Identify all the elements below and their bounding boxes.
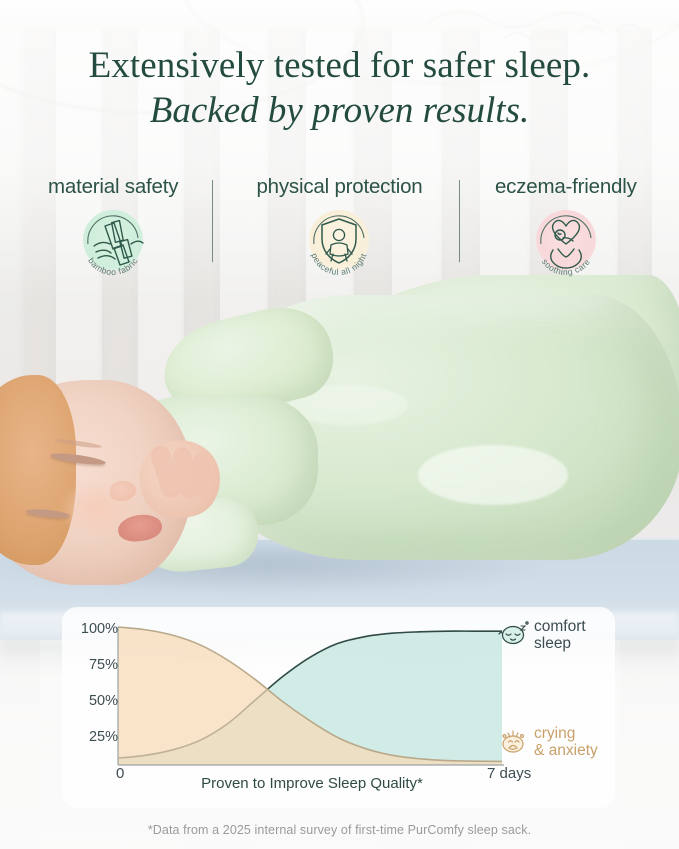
headline: Extensively tested for safer sleep. Back… [0,44,679,134]
chart-inner: 100% 75% 50% 25% 0 7 days Proven to Impr… [62,607,615,808]
y-tick-75: 75% [89,657,118,673]
shield-baby-icon: peaceful all night [300,204,378,282]
legend-crying-anxiety: crying & anxiety [534,725,598,759]
sleeping-baby [0,295,679,595]
footnote: *Data from a 2025 internal survey of fir… [0,823,679,837]
badge-emblem: bamboo fabric [74,204,152,282]
feature-badges: material safety [0,175,679,290]
crying-baby-icon [498,727,530,755]
legend-label-line-2: sleep [534,635,586,652]
badge-eczema-friendly[interactable]: eczema-friendly soothing care [453,175,679,290]
headline-line-2: Backed by proven results. [0,88,679,134]
bamboo-icon: bamboo fabric [74,204,152,282]
chart-caption: Proven to Improve Sleep Quality* [62,775,562,792]
badge-title: physical protection [256,175,422,199]
heart-hands-icon: soothing care [527,204,605,282]
legend-comfort-sleep: comfort sleep [534,618,586,652]
badge-caption: bamboo fabric [86,256,140,277]
sleep-quality-chart-card: 100% 75% 50% 25% 0 7 days Proven to Impr… [62,607,615,808]
promo-poster: Extensively tested for safer sleep. Back… [0,0,679,849]
baby-hair [0,375,76,565]
badge-physical-protection[interactable]: physical protection p [226,175,452,290]
badge-emblem: peaceful all night [300,204,378,282]
badge-title: eczema-friendly [495,175,637,199]
badge-title: material safety [48,175,178,199]
headline-line-1: Extensively tested for safer sleep. [0,44,679,88]
y-tick-50: 50% [89,693,118,709]
svg-text:soothing care: soothing care [540,257,592,277]
legend-label-line-1: crying [534,725,598,742]
sleeping-baby-icon [498,620,530,646]
badge-material-safety[interactable]: material safety [0,175,226,290]
legend-label-line-2: & anxiety [534,742,598,759]
badge-emblem: soothing care [527,204,605,282]
legend-label-line-1: comfort [534,618,586,635]
svg-text:bamboo fabric: bamboo fabric [86,256,140,277]
y-tick-100: 100% [81,621,118,637]
badge-caption: soothing care [540,257,592,277]
y-tick-25: 25% [89,729,118,745]
